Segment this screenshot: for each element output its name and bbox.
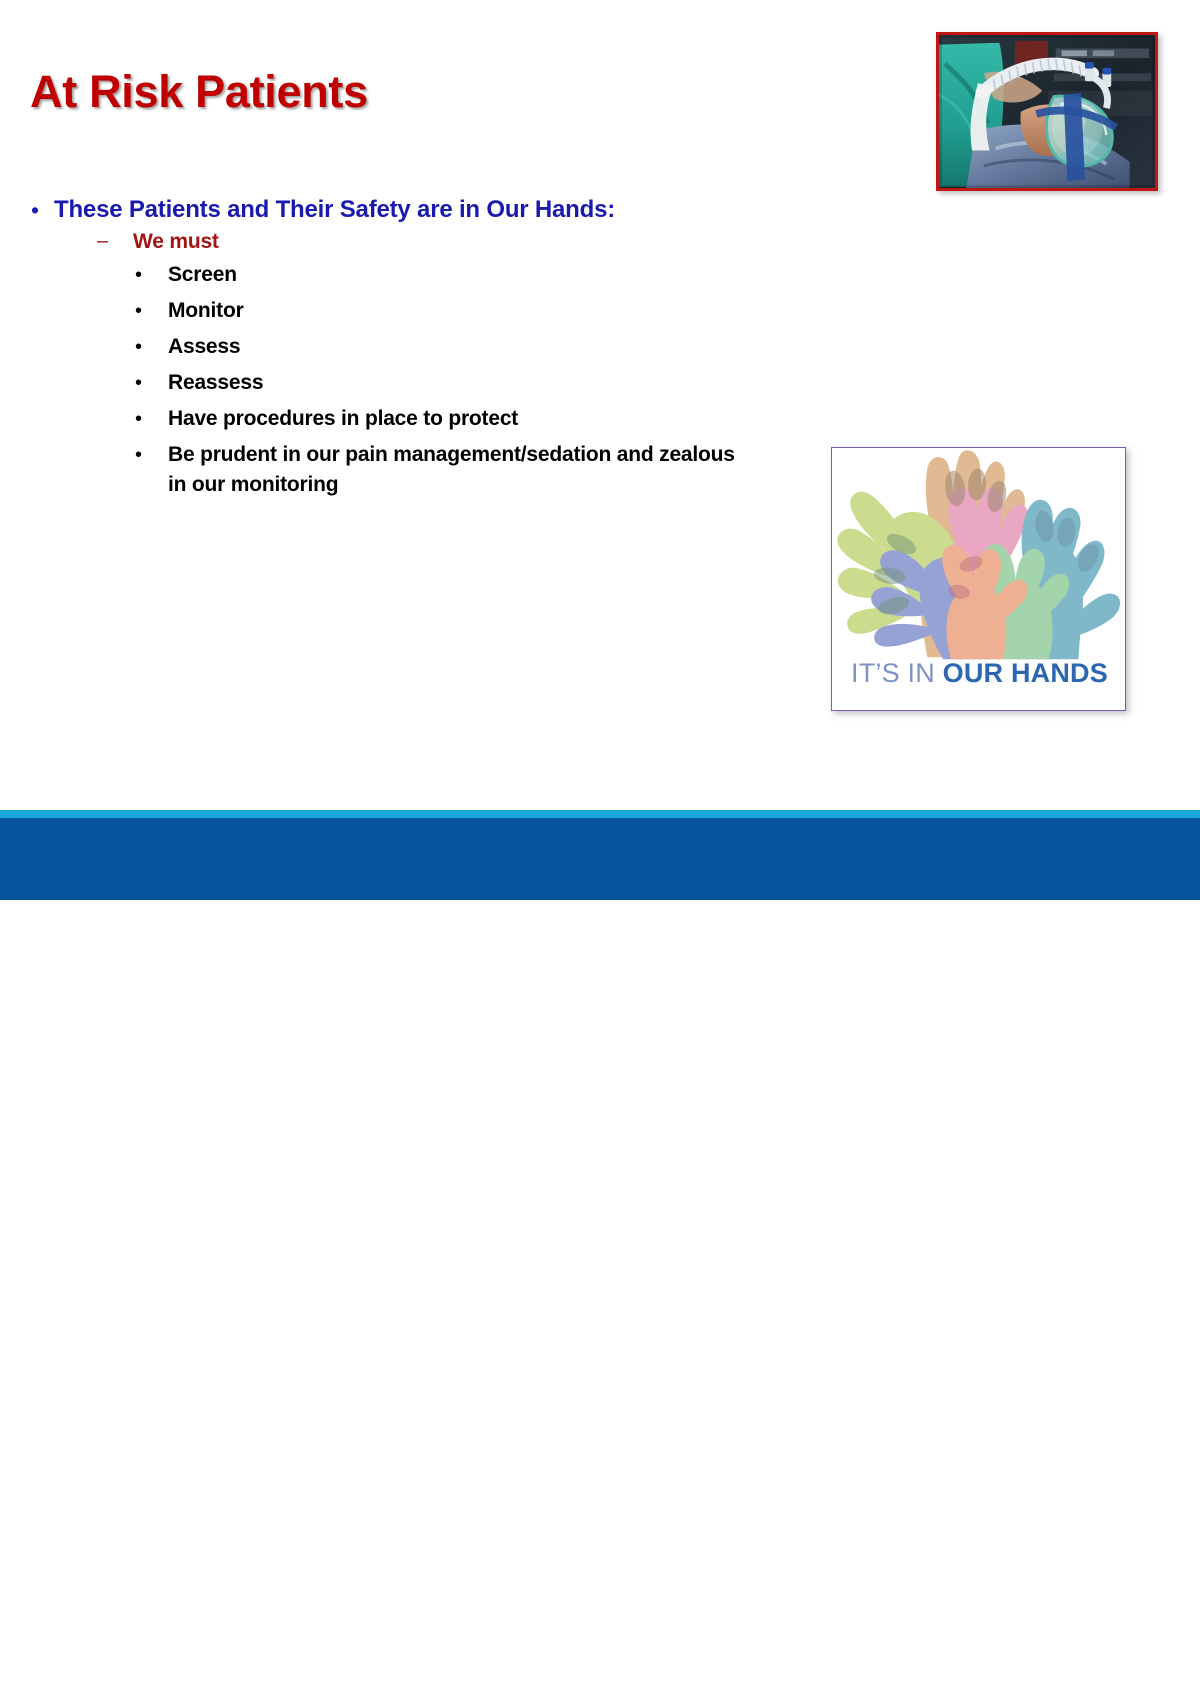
list-item: • Screen [0,260,820,290]
bullet-marker-icon: • [135,296,168,326]
bullet-label: Be prudent in our pain management/sedati… [168,440,758,500]
slide-canvas: At Risk Patients • These Patients and Th… [0,0,1200,900]
footer-accent-stripe [0,810,1200,818]
list-item: – We must [0,228,820,255]
footer-bar: BROWARD HEALTH® [0,818,1200,900]
bullet-marker-icon: • [135,332,168,362]
broward-health-wordmark: BROWARD HEALTH® [873,1654,1200,1699]
logo-text-label: BROWARD HEALTH [873,1657,1200,1699]
clinical-oxygen-mask-photo [936,32,1158,191]
list-item: • Be prudent in our pain management/seda… [0,440,820,500]
bullet-marker-icon: • [135,368,168,398]
hands-caption-bold: OUR HANDS [943,658,1108,688]
bullet-marker-icon: • [135,260,168,290]
hands-caption: IT’S IN OUR HANDS [828,656,1131,690]
bullet-marker-icon: • [135,404,168,434]
bullet-label: Monitor [168,296,244,326]
hands-illustration [832,448,1125,660]
bullet-label: Reassess [168,368,263,398]
list-item: • Reassess [0,368,820,398]
bullet-label: Assess [168,332,240,362]
bullet-marker-icon: • [31,196,54,224]
bullet-label: We must [133,228,219,255]
bullet-label: Have procedures in place to protect [168,404,518,434]
broward-health-logo: BROWARD HEALTH® [806,1646,1200,1706]
bullet-label: Screen [168,260,237,290]
list-item: • Assess [0,332,820,362]
hands-caption-light: IT’S IN [851,658,943,688]
its-in-our-hands-graphic: IT’S IN OUR HANDS [831,447,1126,711]
hands-art [832,448,1125,660]
clinical-photo-art [939,35,1155,188]
bullet-label: These Patients and Their Safety are in O… [54,196,615,224]
bullet-marker-icon: • [135,440,168,470]
page-title: At Risk Patients [30,66,368,118]
dash-marker-icon: – [97,228,133,255]
broward-health-emblem-icon [806,1647,864,1705]
list-item: • These Patients and Their Safety are in… [0,196,820,224]
list-item: • Have procedures in place to protect [0,404,820,434]
bullet-list: • These Patients and Their Safety are in… [0,196,820,506]
list-item: • Monitor [0,296,820,326]
